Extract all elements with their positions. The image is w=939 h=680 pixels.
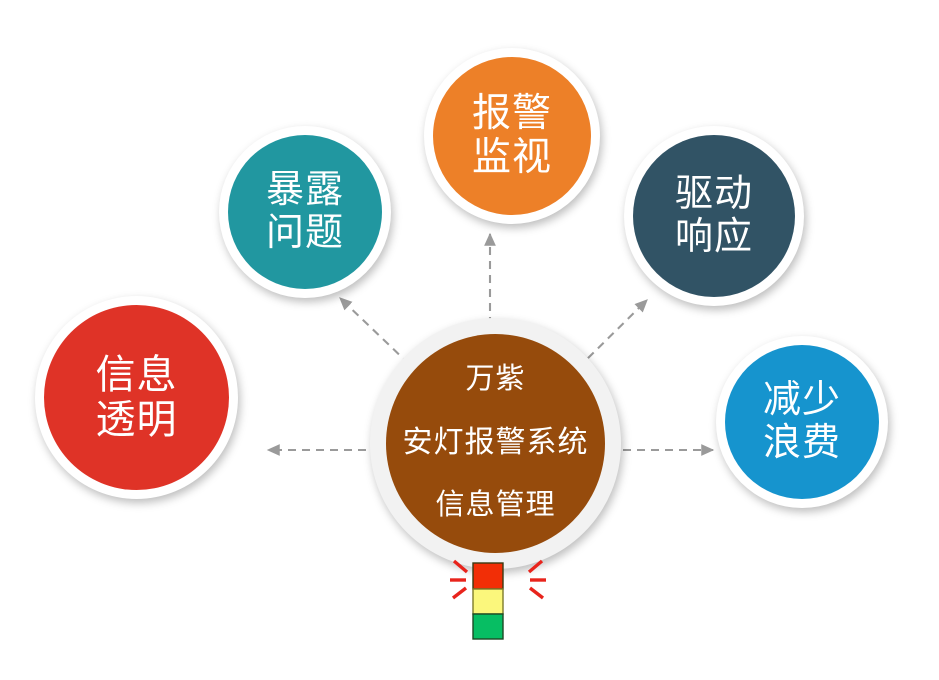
node-alarm-monitor[interactable]: 报警 监视 [424,48,600,224]
node-expose-problem-line-2: 问题 [266,212,344,255]
node-drive-response-disc: 驱动 响应 [633,135,795,297]
green-lamp [473,614,503,639]
ray-right-lower [530,588,543,598]
node-alarm-monitor-line-2: 监视 [472,136,552,180]
node-expose-problem[interactable]: 暴露 问题 [219,126,391,298]
node-reduce-waste[interactable]: 减少 浪费 [716,336,888,508]
red-lamp [473,563,503,589]
node-expose-problem-disc: 暴露 问题 [228,135,382,289]
node-drive-response-line-1: 驱动 [675,173,753,216]
diagram-canvas: 报警 监视 暴露 问题 驱动 响应 信息 透明 减少 浪费 万紫 安 [0,0,939,680]
node-expose-problem-line-1: 暴露 [266,169,344,212]
node-info-transparent-line-2: 透明 [96,398,178,443]
node-center-hub[interactable]: 万紫 安灯报警系统 信息管理 [370,318,621,569]
node-info-transparent-line-1: 信息 [96,353,178,398]
node-drive-response[interactable]: 驱动 响应 [624,126,804,306]
connector-to-drive-response [578,300,647,368]
center-title-line-1: 万紫 [465,363,525,395]
node-drive-response-line-2: 响应 [675,216,753,259]
connector-to-expose-problem [340,298,409,364]
ray-left-lower [453,588,466,598]
node-info-transparent-disc: 信息 透明 [44,305,229,490]
yellow-lamp [473,589,503,614]
center-title-line-2: 安灯报警系统 [403,426,589,460]
node-reduce-waste-line-2: 浪费 [763,422,841,465]
node-reduce-waste-line-1: 减少 [763,379,841,422]
center-title-line-3: 信息管理 [435,489,555,521]
node-info-transparent[interactable]: 信息 透明 [35,296,238,499]
node-alarm-monitor-line-1: 报警 [472,92,552,136]
node-center-disc: 万紫 安灯报警系统 信息管理 [386,334,605,553]
node-alarm-monitor-disc: 报警 监视 [433,57,591,215]
ray-right-upper [529,561,542,572]
node-reduce-waste-disc: 减少 浪费 [725,345,879,499]
andon-light-tower [450,552,546,648]
ray-left-upper [454,561,467,572]
